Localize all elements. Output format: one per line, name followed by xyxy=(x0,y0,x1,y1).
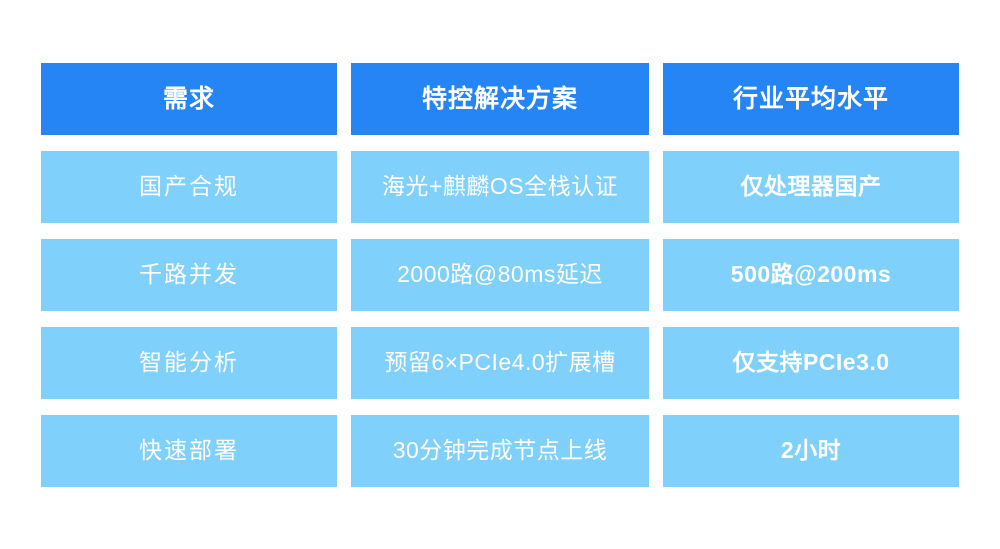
table-cell-requirement: 快速部署 xyxy=(41,415,337,487)
table-header-industry-label: 行业平均水平 xyxy=(733,84,889,114)
table-cell-text: 智能分析 xyxy=(139,349,239,377)
table-header-requirement-label: 需求 xyxy=(163,84,215,114)
table-cell-industry: 2小时 xyxy=(663,415,959,487)
table-cell-requirement: 国产合规 xyxy=(41,151,337,223)
table-cell-requirement: 千路并发 xyxy=(41,239,337,311)
table-header-solution: 特控解决方案 xyxy=(351,63,649,135)
table-cell-text: 2000路@80ms延迟 xyxy=(397,261,603,289)
table-header-industry: 行业平均水平 xyxy=(663,63,959,135)
comparison-table: 需求 特控解决方案 行业平均水平 国产合规 海光+麒麟OS全栈认证 仅处理器国产… xyxy=(41,63,959,487)
table-cell-text: 千路并发 xyxy=(139,261,239,289)
table-cell-text: 30分钟完成节点上线 xyxy=(393,437,608,465)
table-cell-industry: 仅支持PCIe3.0 xyxy=(663,327,959,399)
table-cell-text: 国产合规 xyxy=(139,173,239,201)
table-cell-text: 快速部署 xyxy=(139,437,239,465)
table-cell-industry: 仅处理器国产 xyxy=(663,151,959,223)
table-cell-text: 2小时 xyxy=(781,437,841,465)
table-cell-solution: 30分钟完成节点上线 xyxy=(351,415,649,487)
table-cell-solution: 预留6×PCIe4.0扩展槽 xyxy=(351,327,649,399)
table-cell-solution: 2000路@80ms延迟 xyxy=(351,239,649,311)
table-cell-text: 500路@200ms xyxy=(731,261,891,289)
table-cell-requirement: 智能分析 xyxy=(41,327,337,399)
table-cell-text: 海光+麒麟OS全栈认证 xyxy=(382,173,618,201)
table-header-requirement: 需求 xyxy=(41,63,337,135)
table-cell-text: 预留6×PCIe4.0扩展槽 xyxy=(384,349,615,377)
table-header-solution-label: 特控解决方案 xyxy=(422,84,578,114)
table-cell-text: 仅支持PCIe3.0 xyxy=(732,349,889,377)
table-cell-solution: 海光+麒麟OS全栈认证 xyxy=(351,151,649,223)
table-cell-industry: 500路@200ms xyxy=(663,239,959,311)
table-cell-text: 仅处理器国产 xyxy=(741,173,882,201)
